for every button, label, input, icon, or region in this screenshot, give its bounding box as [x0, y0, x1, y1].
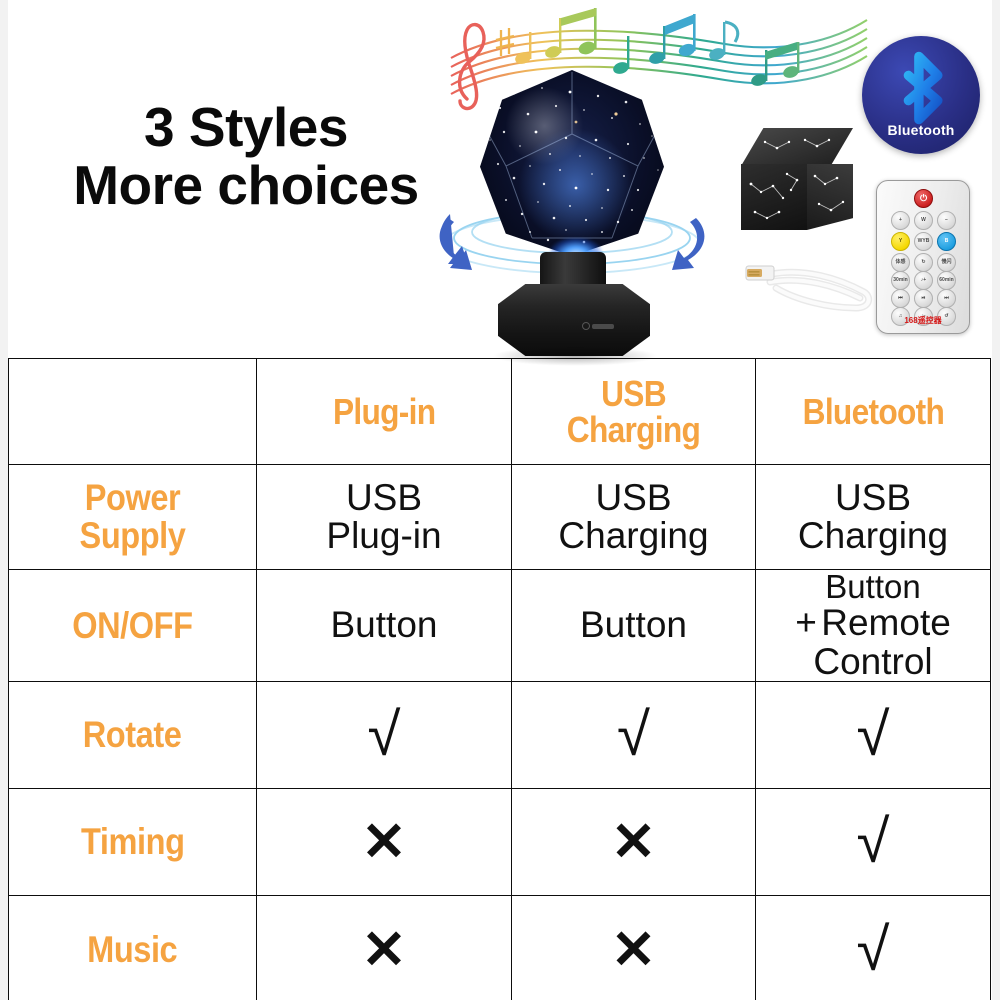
column-header-usb-charging: USB Charging [512, 359, 756, 465]
row-label-timing: Timing [9, 789, 257, 896]
cell-timing-usb-charging: ✕ [512, 789, 756, 896]
cell-power-supply-plug-in: USB Plug-in [257, 465, 512, 570]
remote-wyb-button[interactable]: WYB [914, 232, 933, 251]
cell-rotate-plug-in: √ [257, 682, 512, 789]
remote-mode-button[interactable]: 体感 [891, 253, 910, 272]
remote-model-caption: 168遥控器 [877, 315, 969, 326]
cell-power-supply-bluetooth: USB Charging [756, 465, 991, 570]
lamp-power-button[interactable] [582, 322, 590, 330]
remote-brightness-up-button[interactable]: + [891, 211, 910, 230]
remote-brightness-down-button[interactable]: − [937, 211, 956, 230]
remote-blue-button[interactable]: B [937, 232, 956, 251]
table-row-power-supply: Power Supply USB Plug-in USB Charging US… [9, 465, 991, 570]
row-label-on-off: ON/OFF [9, 570, 257, 682]
cell-on-off-usb-charging-value: Button [580, 604, 687, 645]
table-row-music: Music ✕ ✕ √ [9, 896, 991, 1000]
cell-power-supply-plug-in-line1: USB [257, 479, 511, 517]
column-header-plug-in: Plug-in [257, 359, 512, 465]
cross-icon: ✕ [611, 812, 656, 872]
cross-icon: ✕ [611, 920, 656, 980]
cell-on-off-bluetooth-plus: + [795, 602, 817, 643]
column-header-bluetooth: Bluetooth [756, 359, 991, 465]
cell-power-supply-usb-charging-line2: Charging [512, 517, 755, 555]
table-row-timing: Timing ✕ ✕ √ [9, 789, 991, 896]
column-header-usb-charging-line1: USB [527, 376, 741, 412]
row-label-timing-label: Timing [81, 823, 184, 861]
remote-control-icon[interactable]: ⏻ + W − Y WYB B 体感 ↻ 慢闪 30min ♪+ 60min ⏮… [876, 180, 970, 334]
cell-on-off-plug-in: Button [257, 570, 512, 682]
lamp-dome [480, 70, 664, 256]
row-label-power-supply: Power Supply [9, 465, 257, 570]
column-header-bluetooth-label: Bluetooth [802, 394, 943, 430]
cross-icon: ✕ [361, 920, 406, 980]
cell-on-off-plug-in-value: Button [331, 604, 438, 645]
cell-music-usb-charging: ✕ [512, 896, 756, 1000]
check-icon: √ [368, 701, 401, 768]
remote-timer-30-button[interactable]: 30min [891, 271, 910, 290]
infographic-canvas: 3 Styles More choices [0, 0, 1000, 1000]
remote-power-button[interactable]: ⏻ [914, 189, 933, 208]
row-label-power-supply-line2: Supply [24, 517, 241, 555]
row-label-rotate-label: Rotate [83, 716, 182, 754]
remote-white-button[interactable]: W [914, 211, 933, 230]
lamp-usb-port [592, 324, 614, 329]
cell-rotate-bluetooth: √ [756, 682, 991, 789]
cell-music-bluetooth: √ [756, 896, 991, 1000]
remote-timer-60-button[interactable]: 60min [937, 271, 956, 290]
headline-line-1: 3 Styles [46, 98, 446, 156]
bluetooth-badge: Bluetooth [862, 36, 980, 154]
hero-section: 3 Styles More choices [0, 0, 1000, 358]
usb-cable-icon [742, 248, 882, 322]
remote-flash-button[interactable]: 慢闪 [937, 253, 956, 272]
remote-rotate-button[interactable]: ↻ [914, 253, 933, 272]
remote-play-pause-button[interactable]: ⏯ [914, 289, 933, 308]
column-header-plug-in-label: Plug-in [333, 394, 435, 430]
check-icon: √ [857, 808, 890, 875]
remote-volume-up-button[interactable]: ♪+ [914, 271, 933, 290]
cell-on-off-bluetooth: Button + Remote Control [756, 570, 991, 682]
gift-box-icon [735, 128, 859, 240]
cell-rotate-usb-charging: √ [512, 682, 756, 789]
remote-previous-button[interactable]: ⏮ [891, 289, 910, 308]
feature-comparison-table: Plug-in USB Charging Bluetooth Power Sup… [8, 358, 991, 1000]
cell-on-off-usb-charging: Button [512, 570, 756, 682]
cell-power-supply-bluetooth-line1: USB [756, 479, 990, 517]
column-header-usb-charging-line2: Charging [527, 412, 741, 448]
row-label-on-off-label: ON/OFF [72, 607, 192, 645]
table-row-rotate: Rotate √ √ √ [9, 682, 991, 789]
check-icon: √ [617, 701, 650, 768]
row-label-rotate: Rotate [9, 682, 257, 789]
cell-on-off-bluetooth-line1: Button [756, 570, 990, 604]
table-row-on-off: ON/OFF Button Button Button + Remote Con… [9, 570, 991, 682]
remote-next-button[interactable]: ⏭ [937, 289, 956, 308]
check-icon: √ [857, 701, 890, 768]
row-label-music-label: Music [87, 931, 177, 969]
cell-power-supply-bluetooth-line2: Charging [756, 517, 990, 555]
table-header-row: Plug-in USB Charging Bluetooth [9, 359, 991, 465]
page-title: 3 Styles More choices [46, 98, 446, 215]
cell-music-plug-in: ✕ [257, 896, 512, 1000]
cell-power-supply-plug-in-line2: Plug-in [257, 517, 511, 555]
cross-icon: ✕ [361, 812, 406, 872]
remote-yellow-button[interactable]: Y [891, 232, 910, 251]
table-corner-cell [9, 359, 257, 465]
cell-timing-plug-in: ✕ [257, 789, 512, 896]
cell-power-supply-usb-charging: USB Charging [512, 465, 756, 570]
cell-timing-bluetooth: √ [756, 789, 991, 896]
cell-power-supply-usb-charging-line1: USB [512, 479, 755, 517]
row-label-music: Music [9, 896, 257, 1000]
bluetooth-badge-label: Bluetooth [862, 122, 980, 138]
star-projector-lamp-icon [432, 62, 712, 358]
row-label-power-supply-line1: Power [24, 479, 241, 517]
check-icon: √ [857, 916, 890, 983]
headline-line-2: More choices [46, 156, 446, 214]
cell-on-off-bluetooth-line2: Remote Control [813, 602, 950, 681]
